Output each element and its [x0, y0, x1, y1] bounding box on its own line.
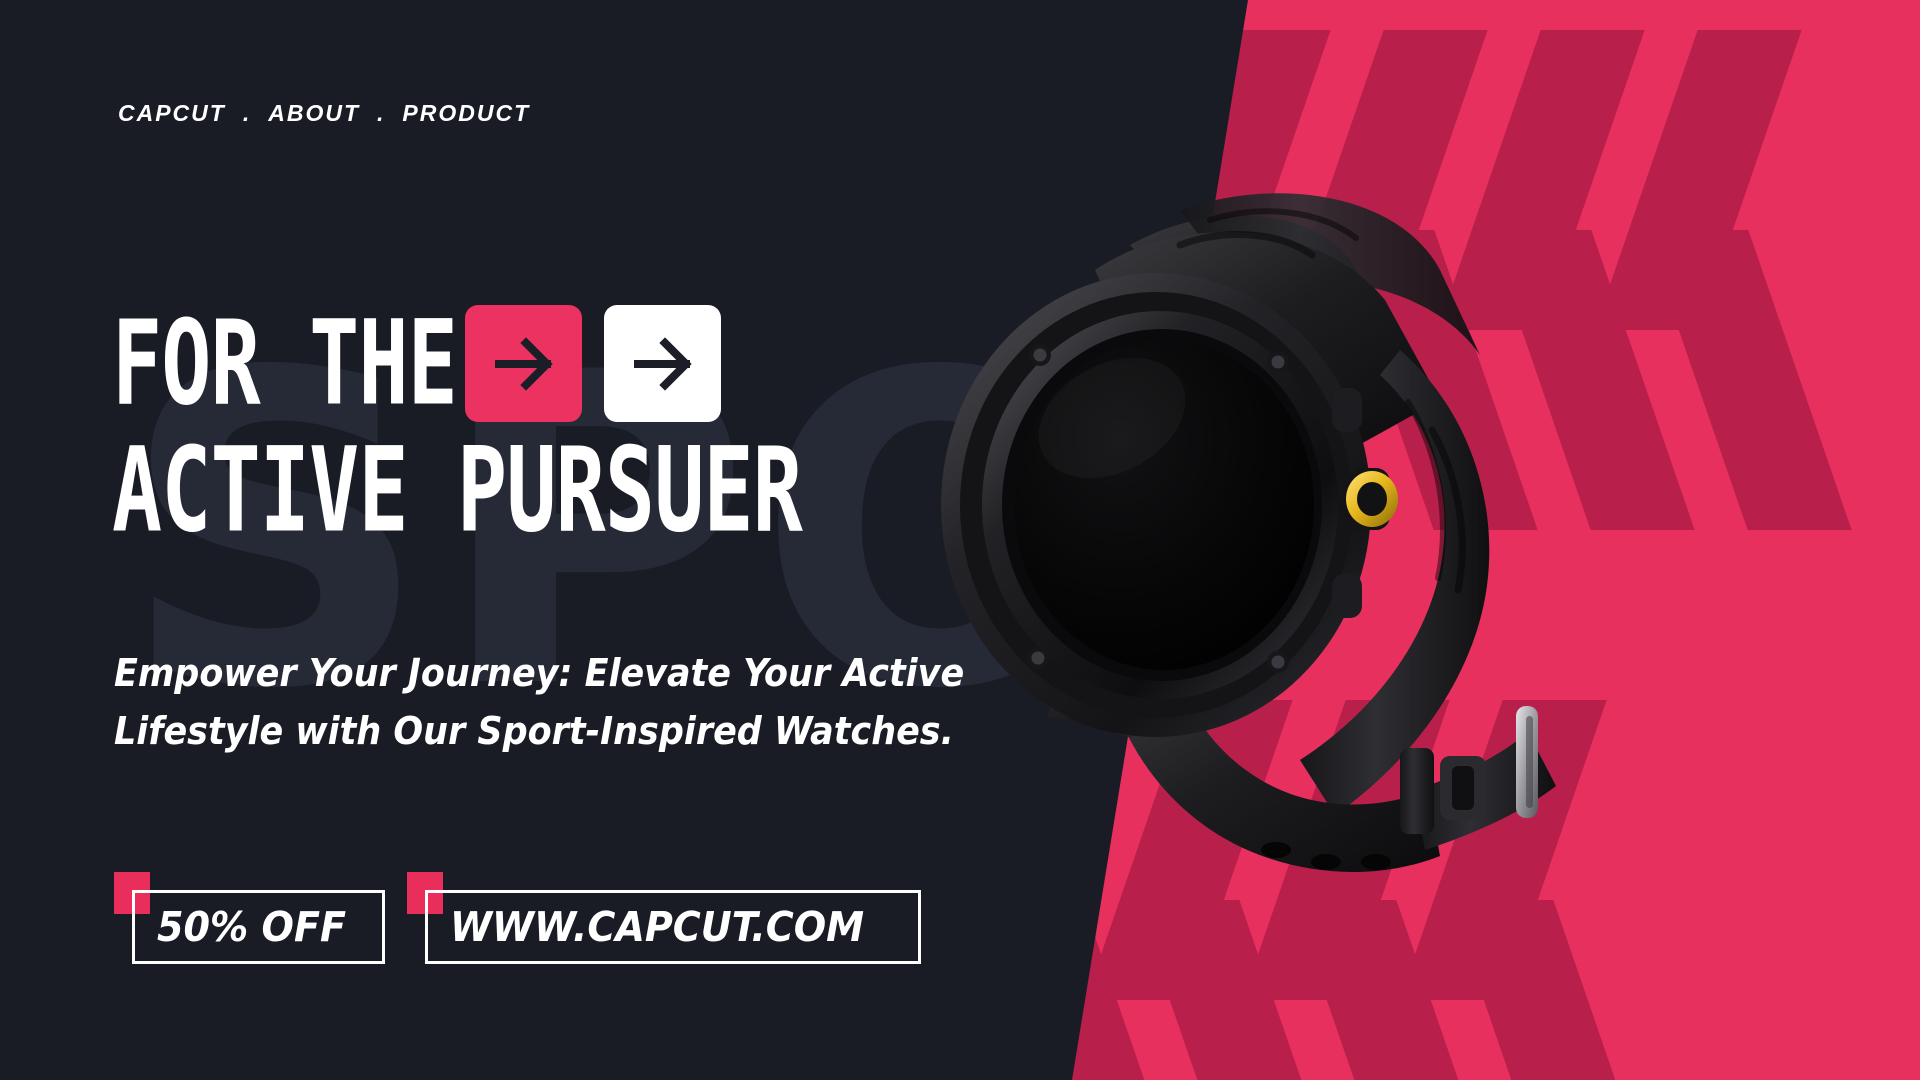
headline-line-2: ACTIVE PURSUER: [112, 434, 802, 547]
subtitle-line-2: Lifestyle with Our Sport-Inspired Watche…: [114, 703, 964, 761]
nav-separator: .: [226, 100, 268, 127]
nav-item-capcut[interactable]: CAPCUT: [118, 100, 226, 127]
badge-group: 50% OFF WWW.CAPCUT.COM: [114, 872, 921, 964]
website-badge-box: WWW.CAPCUT.COM: [425, 890, 920, 964]
website-badge[interactable]: WWW.CAPCUT.COM: [407, 872, 920, 964]
primary-cta-button[interactable]: [465, 305, 582, 422]
arrow-right-icon: [632, 333, 694, 395]
hero-headline: FOR THE: [112, 305, 975, 541]
nav-item-about[interactable]: ABOUT: [268, 100, 360, 127]
hero-subtitle: Empower Your Journey: Elevate Your Activ…: [114, 645, 964, 761]
top-navigation: CAPCUT . ABOUT . PRODUCT: [118, 100, 530, 127]
nav-separator: .: [360, 100, 402, 127]
secondary-cta-button[interactable]: [604, 305, 721, 422]
subtitle-line-1: Empower Your Journey: Elevate Your Activ…: [114, 645, 964, 703]
headline-line-1: FOR THE: [112, 307, 457, 420]
website-badge-label: WWW.CAPCUT.COM: [450, 903, 864, 951]
discount-badge-label: 50% OFF: [157, 903, 346, 951]
discount-badge[interactable]: 50% OFF: [114, 872, 385, 964]
promo-banner: SPORT: [0, 0, 1920, 1080]
headline-row-2: ACTIVE PURSUER: [112, 440, 975, 541]
arrow-right-icon: [493, 333, 555, 395]
headline-row-1: FOR THE: [112, 305, 975, 422]
cta-button-group: [465, 305, 721, 422]
discount-badge-box: 50% OFF: [132, 890, 385, 964]
nav-item-product[interactable]: PRODUCT: [402, 100, 530, 127]
